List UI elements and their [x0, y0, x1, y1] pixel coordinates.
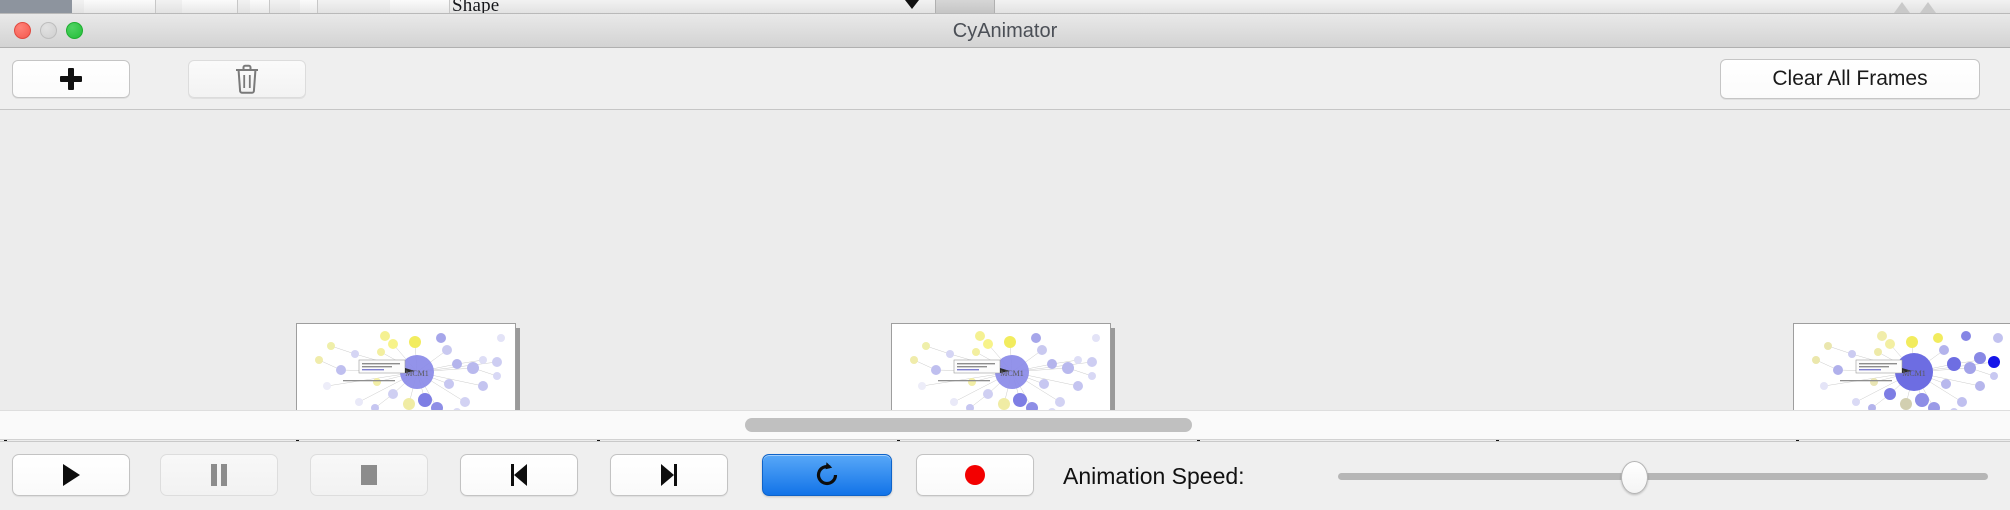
animation-speed-slider[interactable] — [1338, 442, 1988, 510]
skip-back-icon — [508, 463, 530, 487]
network-thumbnail[interactable]: MCM1 — [891, 323, 1111, 419]
background-window-dark-chip — [0, 0, 72, 14]
stop-button[interactable] — [310, 454, 428, 496]
window-title: CyAnimator — [0, 14, 2010, 48]
timeline-scrollbar[interactable] — [0, 410, 2010, 440]
background-window-arrows — [1894, 0, 1952, 14]
timeline-frame-thumbnail[interactable]: MCM1 — [891, 323, 1115, 423]
timeline-frame-thumbnail[interactable]: MCM1 — [1793, 323, 2010, 423]
trash-icon — [234, 64, 260, 94]
background-window-chip — [250, 0, 270, 14]
previous-frame-button[interactable] — [460, 454, 578, 496]
slider-track[interactable] — [1338, 473, 1988, 480]
background-window-chip — [390, 0, 450, 14]
hub-node-label: MCM1 — [405, 369, 429, 378]
loop-icon — [813, 461, 841, 489]
cyanimator-window: Shape CyAnimator — [0, 0, 2010, 510]
background-window-tabs — [935, 0, 995, 14]
network-graph-icon: MCM1 — [892, 324, 1111, 419]
network-thumbnail[interactable]: MCM1 — [296, 323, 516, 419]
network-graph-icon: MCM1 — [1794, 324, 2010, 419]
background-window-strip: Shape — [0, 0, 2010, 14]
clear-all-frames-button[interactable]: Clear All Frames — [1720, 59, 1980, 99]
background-window-label: Shape — [452, 0, 499, 14]
play-button[interactable] — [12, 454, 130, 496]
add-frame-button[interactable] — [12, 60, 130, 98]
caret-down-icon — [905, 0, 919, 9]
titlebar: CyAnimator — [0, 14, 2010, 48]
skip-forward-icon — [658, 463, 680, 487]
stop-icon — [358, 463, 380, 487]
animation-speed-label: Animation Speed: — [1063, 442, 1245, 510]
triangle-icon — [1894, 2, 1910, 13]
record-button[interactable] — [916, 454, 1034, 496]
hub-node-label: MCM1 — [1902, 369, 1926, 378]
play-icon — [60, 463, 82, 487]
loop-button[interactable] — [762, 454, 892, 496]
timeline-panel[interactable]: MCM1 — [0, 110, 2010, 410]
network-thumbnail[interactable]: MCM1 — [1793, 323, 2010, 419]
slider-knob[interactable] — [1621, 461, 1648, 494]
network-graph-icon: MCM1 — [297, 324, 516, 419]
pause-button[interactable] — [160, 454, 278, 496]
plus-icon — [59, 67, 83, 91]
timeline-frame-thumbnail[interactable]: MCM1 — [296, 323, 520, 423]
next-frame-button[interactable] — [610, 454, 728, 496]
background-window-chip — [84, 0, 156, 14]
background-window-chip — [182, 0, 238, 14]
toolbar: Clear All Frames — [0, 48, 2010, 110]
scrollbar-thumb[interactable] — [745, 418, 1192, 432]
playback-control-bar: Animation Speed: — [0, 441, 2010, 510]
hub-node-label: MCM1 — [1000, 369, 1024, 378]
delete-frame-button[interactable] — [188, 60, 306, 98]
pause-icon — [209, 463, 229, 487]
record-icon — [963, 463, 987, 487]
triangle-icon — [1920, 2, 1936, 13]
background-window-chip — [300, 0, 318, 14]
